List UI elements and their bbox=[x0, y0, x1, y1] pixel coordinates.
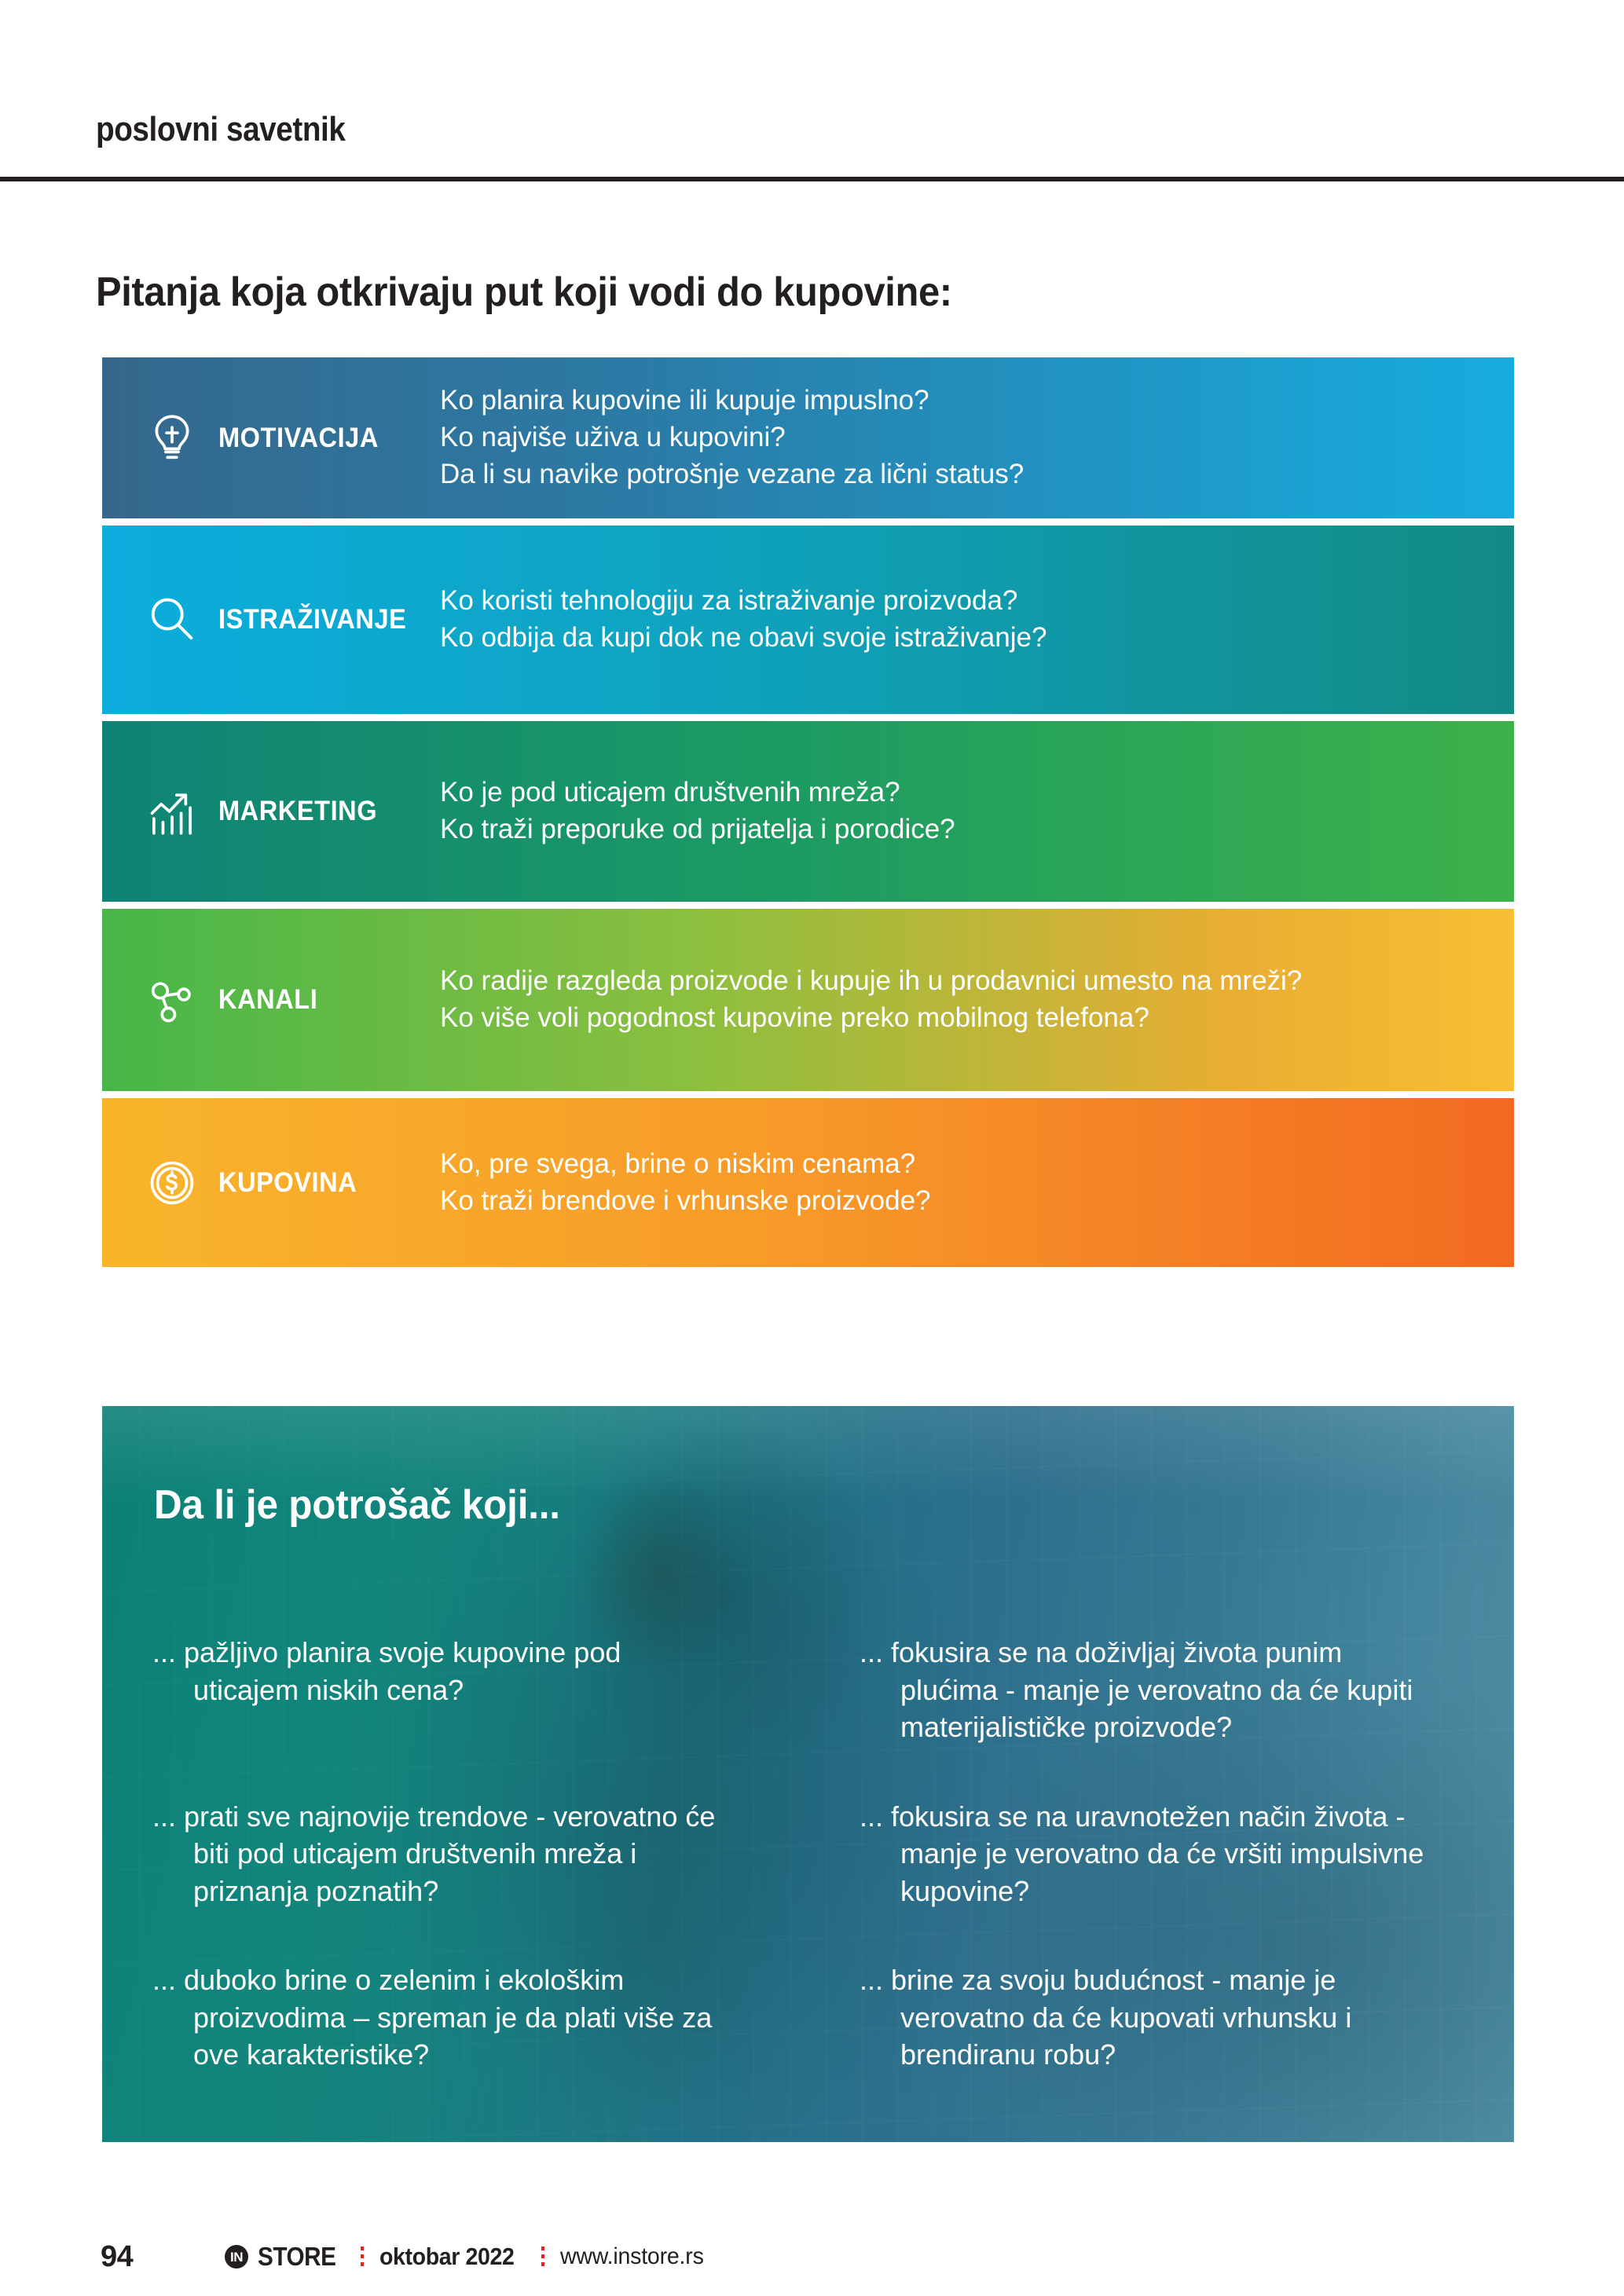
header-rule bbox=[0, 177, 1624, 181]
stage-icon-group: MARKETING bbox=[102, 721, 440, 902]
magnifier-icon bbox=[143, 591, 201, 649]
website-url: www.instore.rs bbox=[560, 2243, 704, 2270]
stage-question: Ko radije razgleda proizvode i kupuje ih… bbox=[440, 963, 1483, 1000]
stage-question: Da li su navike potrošnje vezane za ličn… bbox=[440, 456, 1483, 493]
share-network-icon bbox=[143, 971, 201, 1029]
stage-questions: Ko planira kupovine ili kupuje impuslno?… bbox=[440, 383, 1514, 493]
stage-question: Ko više voli pogodnost kupovine preko mo… bbox=[440, 1000, 1483, 1037]
dollar-coin-icon bbox=[143, 1154, 201, 1212]
consumer-question: ... fokusira se na doživljaj života puni… bbox=[860, 1634, 1441, 1746]
instore-logo-mark: IN bbox=[225, 2245, 248, 2269]
panel-heading: Da li je potrošač koji... bbox=[154, 1481, 560, 1529]
stage-questions: Ko koristi tehnologiju za istraživanje p… bbox=[440, 583, 1514, 657]
stage-label: MOTIVACIJA bbox=[218, 423, 379, 454]
magazine-page: poslovni savetnik Pitanja koja otkrivaju… bbox=[0, 0, 1624, 2296]
stage-label: ISTRAŽIVANJE bbox=[218, 604, 406, 635]
consumer-question: ... brine za svoju budućnost - manje je … bbox=[860, 1961, 1441, 2074]
stage-icon-group: MOTIVACIJA bbox=[102, 357, 440, 518]
section-title: Pitanja koja otkrivaju put koji vodi do … bbox=[96, 269, 952, 316]
stage-question: Ko je pod uticajem društvenih mreža? bbox=[440, 774, 1483, 811]
stage-question: Ko koristi tehnologiju za istraživanje p… bbox=[440, 583, 1483, 620]
consumer-question: ... pažljivo planira svoje kupovine pod … bbox=[152, 1634, 734, 1746]
dot-separator bbox=[361, 2247, 364, 2267]
consumer-question: ... duboko brine o zelenim i ekološkim p… bbox=[152, 1961, 734, 2074]
journey-stage-kupovina[interactable]: KUPOVINA Ko, pre svega, brine o niskim c… bbox=[102, 1098, 1514, 1267]
stage-question: Ko traži brendove i vrhunske proizvode? bbox=[440, 1183, 1483, 1220]
stage-label: KUPOVINA bbox=[218, 1167, 357, 1199]
stage-icon-group: KUPOVINA bbox=[102, 1098, 440, 1267]
stage-icon-group: KANALI bbox=[102, 909, 440, 1091]
consumer-question: ... fokusira se na uravnotežen način živ… bbox=[860, 1798, 1441, 1910]
journey-stage-marketing[interactable]: MARKETING Ko je pod uticajem društvenih … bbox=[102, 721, 1514, 902]
stage-question: Ko, pre svega, brine o niskim cenama? bbox=[440, 1146, 1483, 1183]
stage-questions: Ko, pre svega, brine o niskim cenama? Ko… bbox=[440, 1146, 1514, 1220]
journey-stage-kanali[interactable]: KANALI Ko radije razgleda proizvode i ku… bbox=[102, 909, 1514, 1091]
stage-label: KANALI bbox=[218, 984, 317, 1016]
bar-chart-trend-icon bbox=[143, 782, 201, 840]
stage-questions: Ko radije razgleda proizvode i kupuje ih… bbox=[440, 963, 1514, 1037]
page-kicker: poslovni savetnik bbox=[96, 110, 345, 149]
purchase-journey-list: MOTIVACIJA Ko planira kupovine ili kupuj… bbox=[102, 357, 1514, 1267]
consumer-profile-panel: Da li je potrošač koji... ... pažljivo p… bbox=[102, 1406, 1514, 2142]
stage-question: Ko najviše uživa u kupovini? bbox=[440, 419, 1483, 456]
consumer-question: ... prati sve najnovije trendove - verov… bbox=[152, 1798, 734, 1910]
dot-separator bbox=[541, 2247, 544, 2267]
stage-question: Ko planira kupovine ili kupuje impuslno? bbox=[440, 383, 1483, 419]
stage-icon-group: ISTRAŽIVANJE bbox=[102, 525, 440, 714]
page-footer: 94 IN STORE oktobar 2022 www.instore.rs bbox=[0, 2240, 1624, 2287]
stage-question: Ko odbija da kupi dok ne obavi svoje ist… bbox=[440, 620, 1483, 657]
journey-stage-motivacija[interactable]: MOTIVACIJA Ko planira kupovine ili kupuj… bbox=[102, 357, 1514, 518]
journey-stage-istrazivanje[interactable]: ISTRAŽIVANJE Ko koristi tehnologiju za i… bbox=[102, 525, 1514, 714]
page-number: 94 bbox=[101, 2240, 133, 2274]
stage-question: Ko traži preporuke od prijatelja i porod… bbox=[440, 811, 1483, 848]
lightbulb-icon bbox=[143, 409, 201, 467]
stage-label: MARKETING bbox=[218, 796, 377, 827]
issue-date: oktobar 2022 bbox=[379, 2243, 515, 2271]
instore-logo-word: STORE bbox=[258, 2242, 336, 2272]
colophon: IN STORE oktobar 2022 www.instore.rs bbox=[225, 2242, 711, 2272]
stage-questions: Ko je pod uticajem društvenih mreža? Ko … bbox=[440, 774, 1514, 848]
consumer-question-grid: ... pažljivo planira svoje kupovine pod … bbox=[152, 1634, 1480, 2074]
